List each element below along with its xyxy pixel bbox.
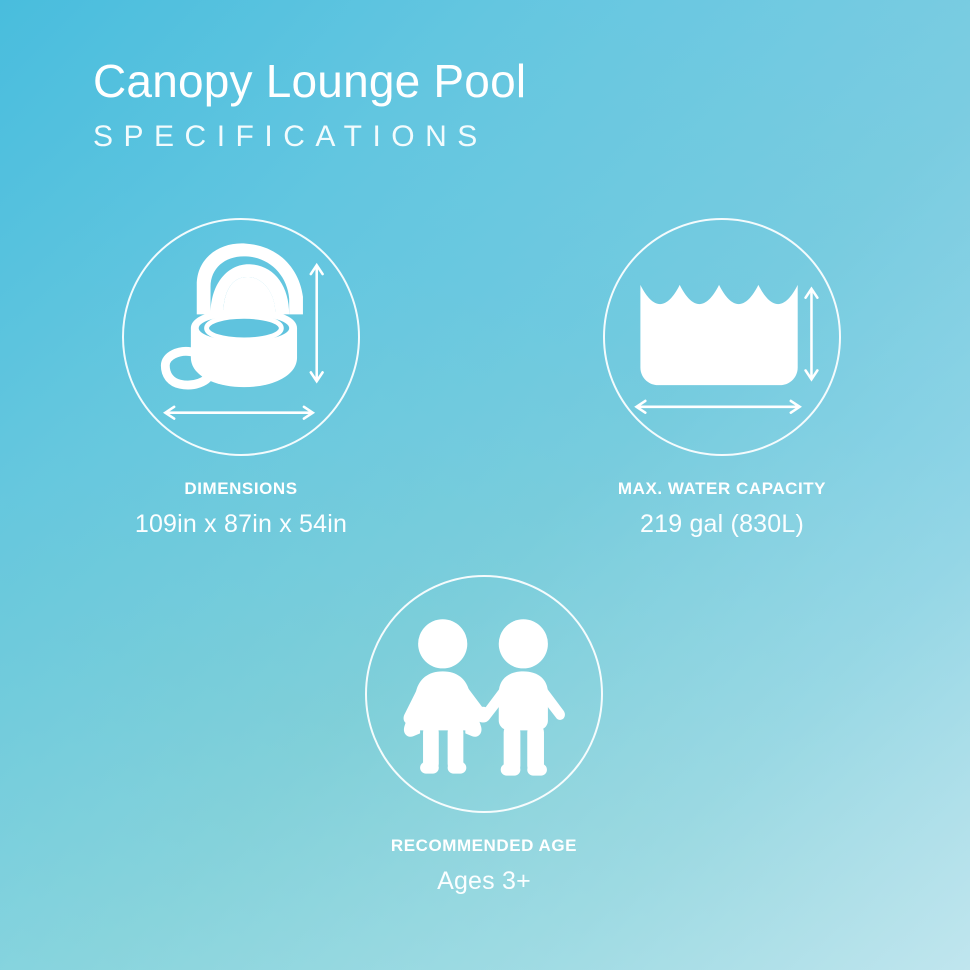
spec-icon-circle-dimensions [122,218,360,456]
spec-icon-circle-age [365,575,603,813]
spec-value-age: Ages 3+ [319,866,649,896]
spec-value-dimensions: 109in x 87in x 54in [76,509,406,539]
spec-item-capacity: MAX. WATER CAPACITY 219 gal (830L) [557,218,887,539]
water-level-capacity-icon [605,220,839,454]
spec-label-capacity: MAX. WATER CAPACITY [557,478,887,500]
pool-canopy-dimensions-icon [124,220,358,454]
spec-item-dimensions: DIMENSIONS 109in x 87in x 54in [76,218,406,539]
spec-value-capacity: 219 gal (830L) [557,509,887,539]
spec-label-age: RECOMMENDED AGE [319,835,649,857]
spec-item-age: RECOMMENDED AGE Ages 3+ [319,575,649,896]
page-title: Canopy Lounge Pool [93,52,793,110]
spec-label-dimensions: DIMENSIONS [76,478,406,500]
header: Canopy Lounge Pool SPECIFICATIONS [93,52,793,160]
spec-icon-circle-capacity [603,218,841,456]
two-children-icon [367,577,601,811]
page-subtitle: SPECIFICATIONS [93,114,793,160]
specifications-poster: Canopy Lounge Pool SPECIFICATIONS [0,0,970,970]
